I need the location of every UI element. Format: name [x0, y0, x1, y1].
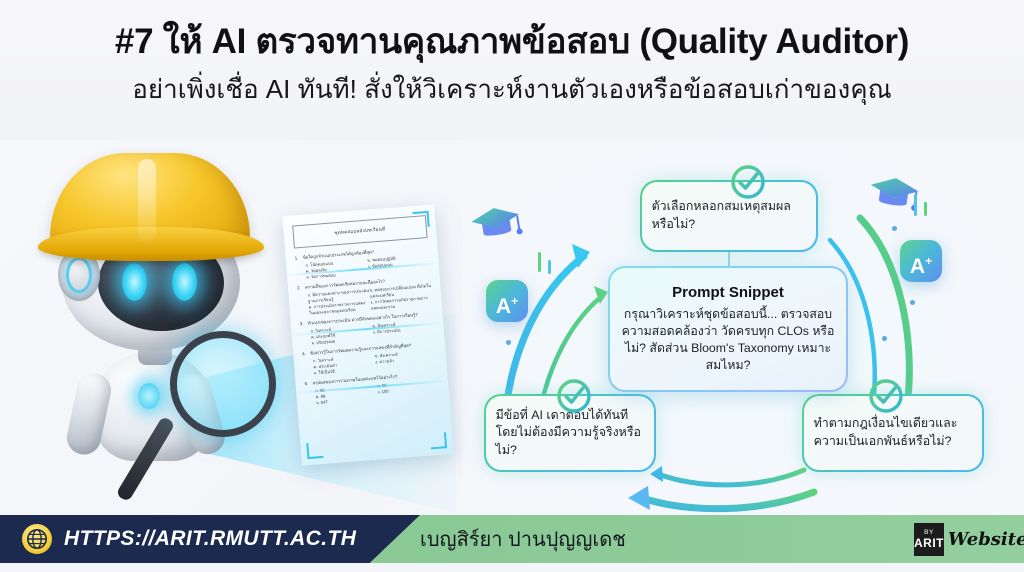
a-plus-letter: A — [496, 295, 511, 318]
tick-mark — [924, 202, 927, 216]
a-plus-badge-icon: A+ — [900, 240, 942, 282]
globe-icon — [22, 524, 52, 554]
dot-decoration — [522, 290, 527, 295]
check-circle-icon — [866, 376, 906, 416]
check-circle-icon — [728, 162, 768, 202]
document-question: 2.ความถี่ของการวัดผลเชิงสมรรถนะคืออะไร?ก… — [297, 275, 433, 318]
scanner-corner-icon — [430, 432, 447, 449]
prompt-snippet-text: กรุณาวิเคราะห์ชุดข้อสอบนี้... ตรวจสอบควา… — [620, 306, 836, 374]
robot-eye-left — [122, 263, 147, 301]
robot-core-light — [138, 383, 160, 409]
robot-illustration — [10, 145, 300, 515]
tick-mark — [548, 260, 551, 274]
dot-decoration — [910, 300, 915, 305]
arit-website-logo[interactable]: BY ARIT Website — [914, 523, 1014, 556]
prompt-snippet-body-wrap: Prompt Snippet กรุณาวิเคราะห์ชุดข้อสอบนี… — [610, 268, 846, 390]
a-plus-sup: + — [511, 294, 518, 308]
footer: เบญสิร์ยา ปานปุญญเดช HTTPS://ARIT.RMUTT.… — [0, 515, 1024, 572]
magnifying-glass-icon — [170, 331, 276, 437]
a-plus-badge-icon: A+ — [486, 280, 528, 322]
robot-ear-ring — [66, 257, 92, 293]
hard-hat-ridge — [138, 159, 156, 243]
check-circle-icon — [554, 376, 594, 416]
dot-decoration — [892, 226, 897, 231]
page-title: #7 ให้ AI ตรวจทานคุณภาพข้อสอบ (Quality A… — [115, 22, 909, 62]
main-stage: ชุดทดสอบหลังบทเรียนที่ 1.ข้อใดถูกจำแนกปร… — [0, 140, 1024, 515]
prompt-snippet-card[interactable]: Prompt Snippet กรุณาวิเคราะห์ชุดข้อสอบนี… — [608, 266, 848, 392]
document-title: ชุดทดสอบหลังบทเรียนที่ — [292, 215, 427, 248]
exam-document: ชุดทดสอบหลังบทเรียนที่ 1.ข้อใดถูกจำแนกปร… — [282, 204, 453, 465]
robot-eye-right — [172, 263, 197, 301]
a-plus-letter: A — [910, 255, 925, 278]
scanner-corner-icon — [412, 211, 429, 228]
page-subtitle: อย่าเพิ่งเชื่อ AI ทันที! สั่งให้วิเคราะห… — [132, 74, 891, 105]
tick-mark — [538, 252, 541, 272]
logo-website-text: Website — [948, 529, 1024, 550]
header: #7 ให้ AI ตรวจทานคุณภาพข้อสอบ (Quality A… — [0, 0, 1024, 140]
url-text: HTTPS://ARIT.RMUTT.AC.TH — [64, 527, 356, 551]
quality-audit-flowchart: A+ A+ ตัวเลือกหลอกสมเหตุสมผลหรือไม่? มีข… — [462, 140, 1024, 515]
prompt-snippet-title: Prompt Snippet — [672, 284, 784, 301]
url-bar[interactable]: HTTPS://ARIT.RMUTT.AC.TH — [0, 515, 420, 563]
dot-decoration — [882, 336, 887, 341]
tick-mark — [914, 194, 917, 216]
scanner-corner-icon — [306, 442, 323, 459]
dot-decoration — [506, 340, 511, 345]
logo-badge: BY ARIT — [914, 523, 944, 556]
logo-arit-text: ARIT — [914, 537, 944, 549]
a-plus-sup: + — [925, 254, 932, 268]
author-name: เบญสิร์ยา ปานปุญญเดช — [420, 515, 626, 563]
